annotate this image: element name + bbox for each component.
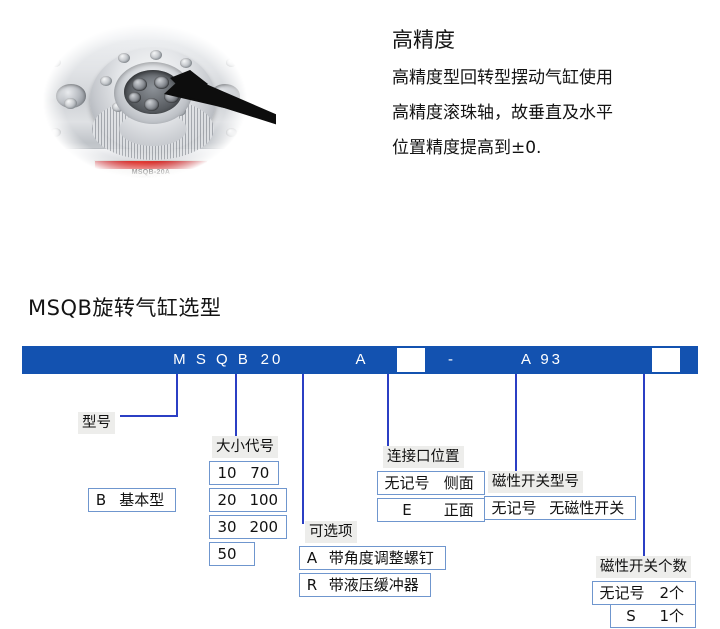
bolt-tl <box>50 58 61 67</box>
callout-option-row-1-code: R <box>305 575 319 595</box>
callout-size-row-0-val: 70 <box>244 463 276 483</box>
bolt-bl <box>50 128 61 137</box>
callout-model-row-0-desc: 基本型 <box>113 490 171 510</box>
callout-switch-qty-row-0-code: 无记号 <box>598 583 646 603</box>
code-seg-size: 20 <box>222 346 322 374</box>
callout-switch-type-row-0-code: 无记号 <box>490 498 538 518</box>
callout-port-row-1-desc: 正面 <box>436 500 482 520</box>
callout-size-row-0-code: 10 <box>215 463 239 483</box>
table-bolt-1 <box>118 53 130 63</box>
callout-size-row-0: 10 70 <box>209 461 279 485</box>
leader-port-v <box>387 374 389 446</box>
callout-switch-qty-row-0-desc: 2个 <box>651 583 693 603</box>
callout-switch-type-row-0: 无记号 无磁性开关 <box>484 496 636 520</box>
product-nameplate: MSQB-20A MAX PRESS 0.1~1.0MPa <box>94 160 208 184</box>
section-title: MSQB旋转气缸选型 <box>28 292 221 322</box>
callout-port-row-1-code: E <box>383 500 431 520</box>
callout-port-row-1: E 正面 <box>377 498 485 522</box>
callout-size-row-2-code: 30 <box>215 517 239 537</box>
callout-option-row-0-desc: 带角度调整螺钉 <box>324 548 439 568</box>
callout-size-header: 大小代号 <box>212 436 278 458</box>
callout-size-row-2-val: 200 <box>244 517 284 537</box>
callout-size-row-3: 50 <box>209 542 255 566</box>
callout-option-row-1: R 带液压缓冲器 <box>299 573 431 597</box>
code-seg-switch-qty-blank <box>652 348 680 372</box>
callout-port-row-0-desc: 侧面 <box>436 473 482 493</box>
leader-option-v <box>302 374 304 524</box>
bolt-hole-left <box>64 98 77 109</box>
callout-size-row-1-val: 100 <box>244 490 284 510</box>
callout-switch-qty-row-1: S 1个 <box>610 604 696 628</box>
page-root: MSQB-20A MAX PRESS 0.1~1.0MPa 高精度 高精度型回转… <box>0 0 720 629</box>
callout-model-row-0-code: B <box>94 490 108 510</box>
model-code-bar: M S Q B 20 A - A 93 <box>22 346 698 374</box>
callout-switch-qty-row-0: 无记号 2个 <box>592 581 696 605</box>
callout-switch-type-header: 磁性开关型号 <box>488 471 583 493</box>
product-photo: MSQB-20A MAX PRESS 0.1~1.0MPa <box>14 2 276 200</box>
callout-switch-qty-header: 磁性开关个数 <box>596 556 691 578</box>
intro-line-1: 高精度型回转型摆动气缸使用 <box>392 64 712 92</box>
callout-size-row-2: 30 200 <box>209 515 287 539</box>
leader-switch-qty-v <box>643 374 645 556</box>
callout-model-row-0: B 基本型 <box>88 488 176 512</box>
callout-option-header: 可选项 <box>305 521 357 543</box>
code-seg-port-blank <box>397 348 425 372</box>
callout-port-header: 连接口位置 <box>383 446 464 468</box>
table-bolt-2 <box>150 50 162 60</box>
nameplate-model: MSQB-20A <box>95 169 207 176</box>
callout-switch-qty-row-1-code: S <box>616 606 646 626</box>
callout-size-row-1-code: 20 <box>215 490 239 510</box>
callout-option-row-0-code: A <box>305 548 319 568</box>
callout-model-header: 型号 <box>78 412 115 434</box>
code-seg-dash: - <box>422 346 482 374</box>
table-bolt-8 <box>100 76 112 86</box>
callout-size-row-1: 20 100 <box>209 488 287 512</box>
callout-switch-qty-row-1-desc: 1个 <box>651 606 693 626</box>
leader-model-v <box>176 374 178 416</box>
intro-line-3: 位置精度提高到±0. <box>392 134 712 162</box>
intro-heading: 高精度 <box>392 24 712 54</box>
pointer-arrow-icon <box>134 62 276 132</box>
code-seg-switch-type: A 93 <box>492 346 592 374</box>
leader-size-v <box>235 374 237 438</box>
leader-model-h <box>120 415 178 417</box>
intro-line-2: 高精度滚珠轴，故垂直及水平 <box>392 99 712 127</box>
nameplate-spec: MAX PRESS 0.1~1.0MPa <box>95 176 207 180</box>
callout-port-row-0-code: 无记号 <box>383 473 431 493</box>
callout-size-row-3-code: 50 <box>215 544 239 564</box>
callout-switch-type-row-0-desc: 无磁性开关 <box>543 498 631 518</box>
intro-block: 高精度 高精度型回转型摆动气缸使用 高精度滚珠轴，故垂直及水平 位置精度提高到±… <box>392 24 712 169</box>
callout-option-row-1-desc: 带液压缓冲器 <box>324 575 424 595</box>
callout-port-row-0: 无记号 侧面 <box>377 471 485 495</box>
callout-option-row-0: A 带角度调整螺钉 <box>299 546 446 570</box>
